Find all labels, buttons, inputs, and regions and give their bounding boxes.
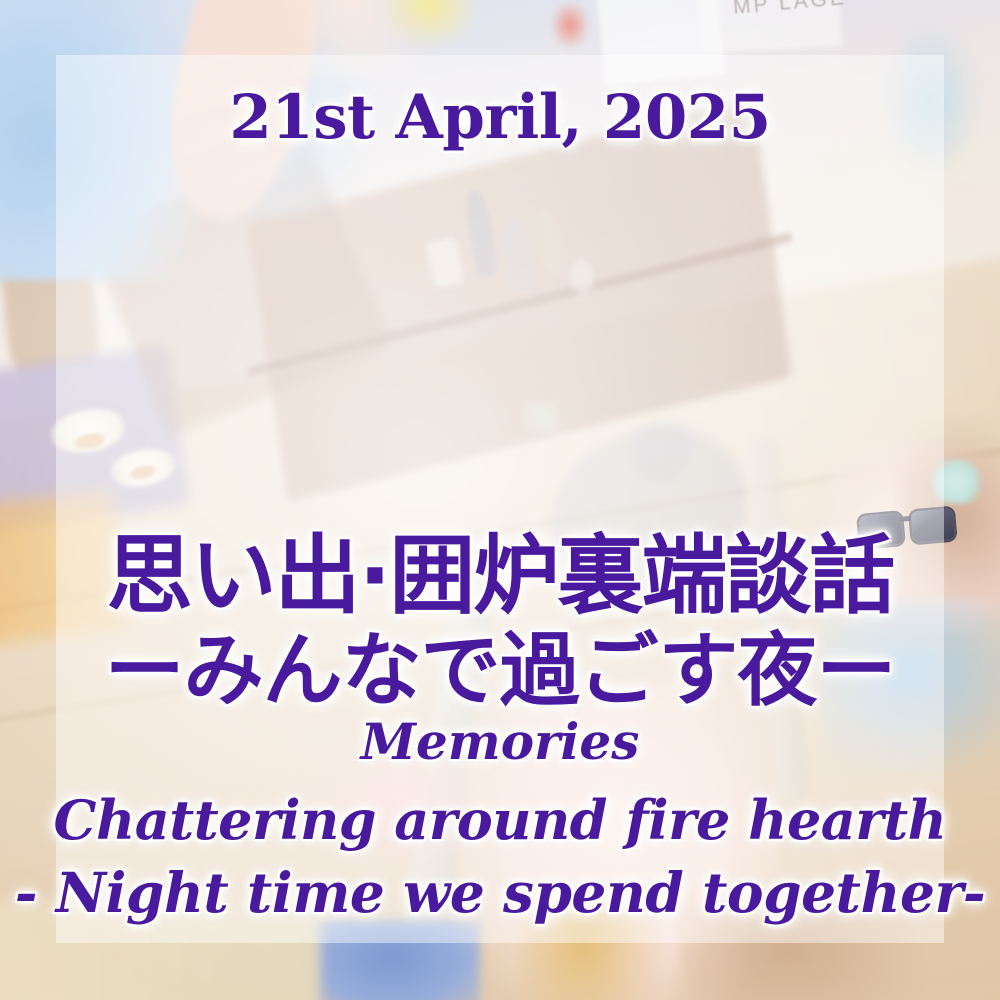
date-text: 21st April, 2025 bbox=[0, 82, 1000, 153]
memory-card: MP LAGE 21st April, 2025 思い出·囲炉裏端談話 ーみんな… bbox=[0, 0, 1000, 1000]
english-title: Memories bbox=[0, 712, 1000, 771]
english-line-1: Chattering around fire hearth bbox=[0, 788, 1000, 852]
japanese-subtitle: ーみんなで過ごす夜ー bbox=[0, 606, 1000, 722]
english-line-2: - Night time we spend together- bbox=[0, 860, 1000, 925]
caption-block: 21st April, 2025 思い出·囲炉裏端談話 ーみんなで過ごす夜ー M… bbox=[0, 0, 1000, 1000]
